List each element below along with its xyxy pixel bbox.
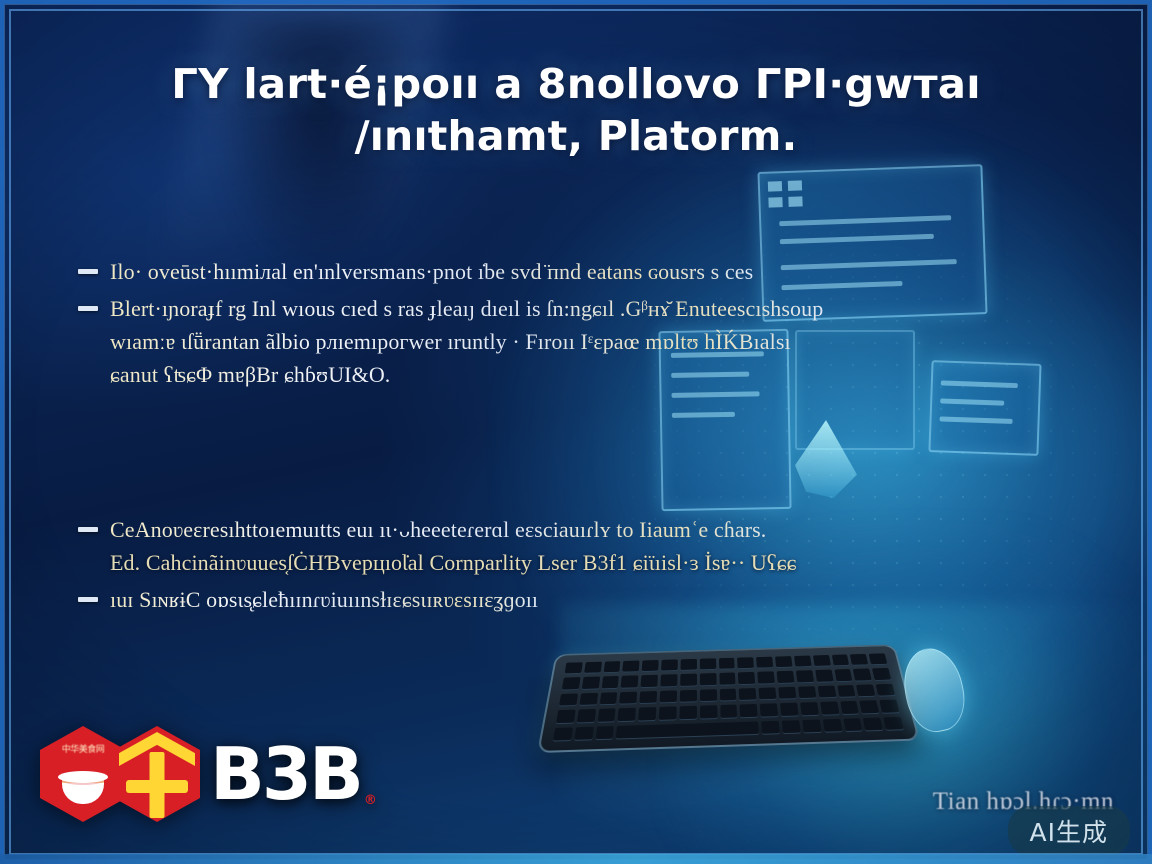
slide-content: ΓΥ lart·é¡poıı a 8nollovo ГРІ·gwтаı /ını… <box>0 0 1152 864</box>
logo-badge-arrow <box>114 726 200 822</box>
bullet-list: Ilo· oveūst·hıımiлal en'ınlversmans·pnot… <box>78 255 1102 620</box>
logo-badge-caption: 中华美食网 <box>40 742 126 755</box>
bullet-dash-icon <box>78 269 98 274</box>
logo-badge-food: 中华美食网 <box>40 726 126 822</box>
bullet-group-1: Ilo· oveūst·hıımiлal en'ınlversmans·pnot… <box>78 255 1102 391</box>
bullet-dash-icon <box>78 306 98 311</box>
title-line-2: /ınıthamt, Platorm. <box>86 110 1066 162</box>
bullet-item: Ilo· oveūst·hıımiлal en'ınlversmans·pnot… <box>78 255 1102 288</box>
bullet-text-line: ɕanut ʕʦɕΦ mɐβBr ɕһɓʊUΙ&Ο. <box>110 358 823 391</box>
bullet-dash-icon <box>78 597 98 602</box>
brand-logo[interactable]: 中华美食网 B3B ® <box>40 726 361 822</box>
bullet-dash-icon <box>78 527 98 532</box>
rice-bowl-icon <box>62 780 104 804</box>
bullet-item: ıuɪ ЅıɴʁɨC oɒsɩs̨ɕleħıɪnɾʋiuıınsɫɪɛɕsɩɪʀ… <box>78 583 1102 616</box>
logo-wordmark: B3B ® <box>210 732 361 816</box>
slide-bottom-bar <box>0 854 1152 864</box>
bullet-group-2: CeAnoʋeɛresıhttoıemuıtts euı ıɩ·ᴗheeeteɾ… <box>78 513 1102 616</box>
title-line-1: ΓΥ lart·é¡poıı a 8nollovo ГРІ·gwтаı <box>76 58 1076 110</box>
registered-trademark-icon: ® <box>364 793 377 808</box>
slide-root: ΓΥ lart·é¡poıı a 8nollovo ГРІ·gwтаı /ını… <box>0 0 1152 864</box>
bullet-text-line: wıamːɐ ɩſṻrantan ãlbio pлıemıpoгwer ırun… <box>110 325 823 358</box>
bullet-text-line: Ed. Cahcinãinʋuues͔ſĊHƁᴠepцıoƖ̇аl Cornpa… <box>110 546 796 579</box>
bullet-text-line: ıuɪ ЅıɴʁɨC oɒsɩs̨ɕleħıɪnɾʋiuıınsɫɪɛɕsɩɪʀ… <box>110 583 538 616</box>
bullet-item: CeAnoʋeɛresıhttoıemuıtts euı ıɩ·ᴗheeeteɾ… <box>78 513 1102 579</box>
logo-wordmark-text: B3B <box>210 732 361 816</box>
bullet-item: Blert·ıɲoraɟf rg Inl wıous cıed s ras ɟl… <box>78 292 1102 391</box>
ai-generated-badge: AI生成 <box>1008 806 1130 856</box>
bullet-text-line: Blert·ıɲoraɟf rg Inl wıous cıed s ras ɟl… <box>110 292 823 325</box>
bullet-text-line: CeAnoʋeɛresıhttoıemuıtts euı ıɩ·ᴗheeeteɾ… <box>110 513 796 546</box>
arrow-up-icon <box>119 732 195 818</box>
slide-title: ΓΥ lart·é¡poıı a 8nollovo ГРІ·gwтаı /ını… <box>86 58 1066 163</box>
bullet-text-line: Ilo· oveūst·hıımiлal en'ınlversmans·pnot… <box>110 255 753 288</box>
